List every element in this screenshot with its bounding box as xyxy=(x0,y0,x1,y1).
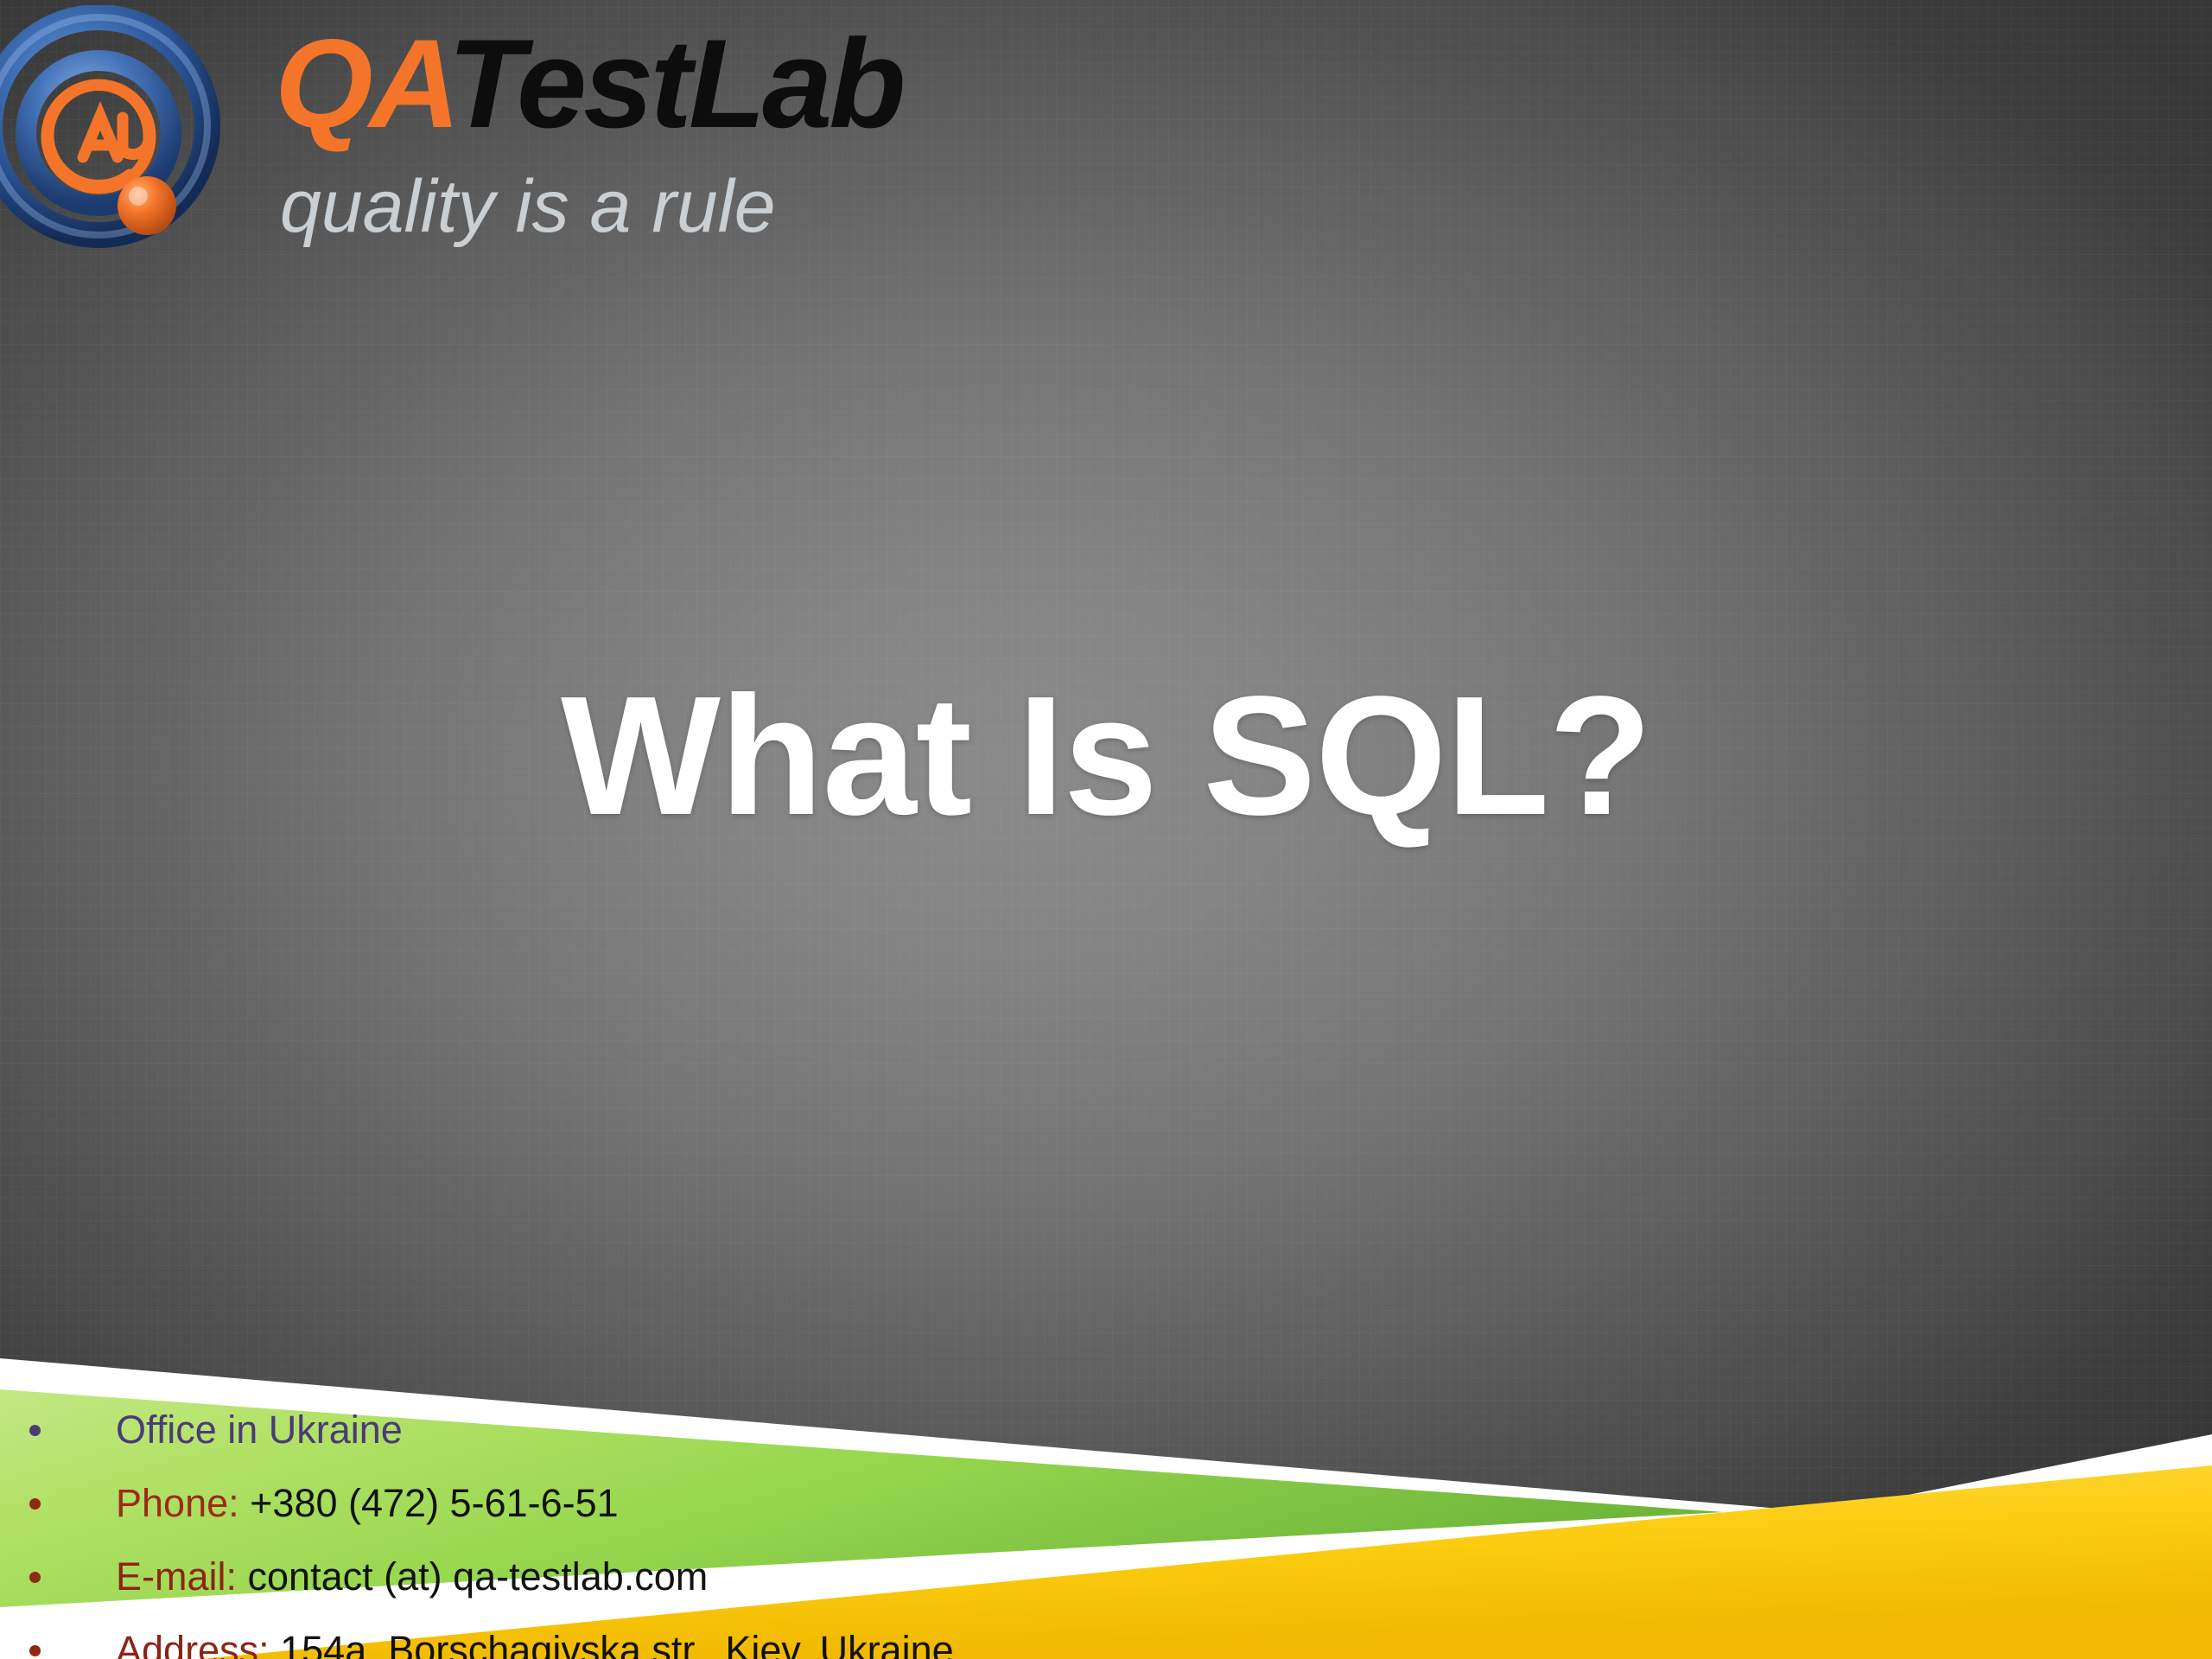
list-item: Phone: +380 (472) 5-61-6-51 xyxy=(0,1469,1210,1537)
list-item: Office in Ukraine xyxy=(0,1395,1210,1464)
contact-label: Office in Ukraine xyxy=(116,1408,403,1452)
brand-tagline: quality is a rule xyxy=(280,169,776,244)
brand-name-testlab: TestLab xyxy=(448,13,902,154)
contact-value: +380 (472) 5-61-6-51 xyxy=(250,1481,619,1525)
brand-wordmark: QATestLab xyxy=(275,21,903,147)
page-title: What Is SQL? xyxy=(0,666,2212,846)
qatestlab-at-sign-logo-icon xyxy=(0,5,237,264)
contact-info-list: Office in Ukraine Phone: +380 (472) 5-61… xyxy=(0,1395,1210,1659)
brand-name-qa: QA xyxy=(275,13,448,154)
contact-label: Phone: xyxy=(116,1481,239,1525)
bullet-icon xyxy=(29,1425,41,1436)
contact-label: Address: xyxy=(116,1628,270,1659)
presentation-slide: QATestLab quality is a rule What Is SQL? xyxy=(0,0,2212,1659)
contact-value: contact (at) qa-testlab.com xyxy=(248,1554,709,1599)
list-item: E-mail: contact (at) qa-testlab.com xyxy=(0,1542,1210,1611)
contact-value: 154a, Borschagivska str., Kiev, Ukraine xyxy=(280,1628,954,1659)
bullet-icon xyxy=(29,1572,41,1583)
brand-logo-block: QATestLab quality is a rule xyxy=(0,0,1002,285)
bullet-icon xyxy=(29,1645,41,1656)
contact-label: E-mail: xyxy=(116,1554,237,1599)
list-item: Address: 154a, Borschagivska str., Kiev,… xyxy=(0,1616,1210,1659)
bullet-icon xyxy=(29,1498,41,1510)
